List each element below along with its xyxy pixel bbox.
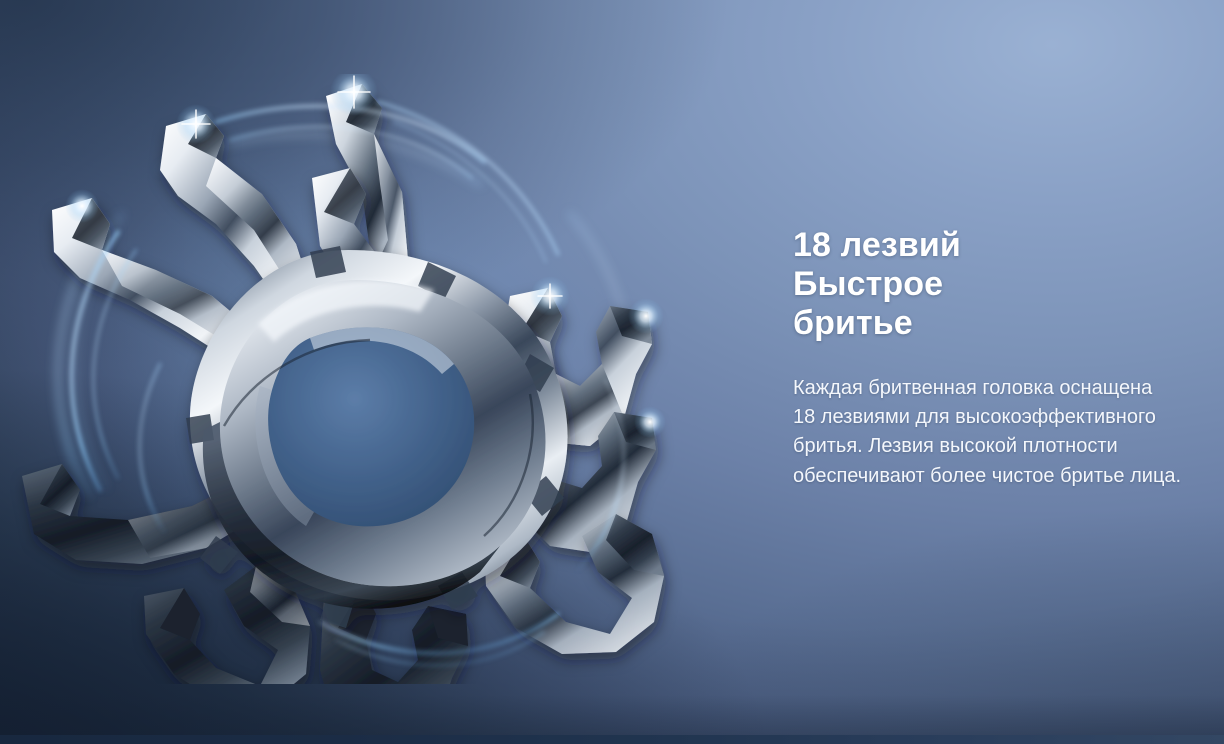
product-feature-banner: 18 лезвий Быстрое бритье Каждая бритвенн…	[0, 0, 1224, 744]
copy-column: 18 лезвий Быстрое бритье Каждая бритвенн…	[793, 226, 1211, 491]
headline-line-2: Быстрое	[793, 265, 1211, 304]
description-line-4: обеспечивают более чистое бритье лица.	[793, 462, 1211, 491]
description-line-2: 18 лезвиями для высокоэффективного	[793, 403, 1211, 432]
headline-line-3: бритье	[793, 304, 1211, 343]
background-bottom-fade	[0, 695, 1224, 735]
headline-line-1: 18 лезвий	[793, 226, 1211, 265]
description-line-1: Каждая бритвенная головка оснащена	[793, 374, 1211, 403]
description-line-3: бритья. Лезвия высокой плотности	[793, 432, 1211, 461]
page-title: 18 лезвий Быстрое бритье	[793, 226, 1211, 343]
description-paragraph: Каждая бритвенная головка оснащена 18 ле…	[793, 343, 1211, 491]
product-image	[10, 74, 720, 684]
background-bottom-strip	[0, 735, 1224, 744]
